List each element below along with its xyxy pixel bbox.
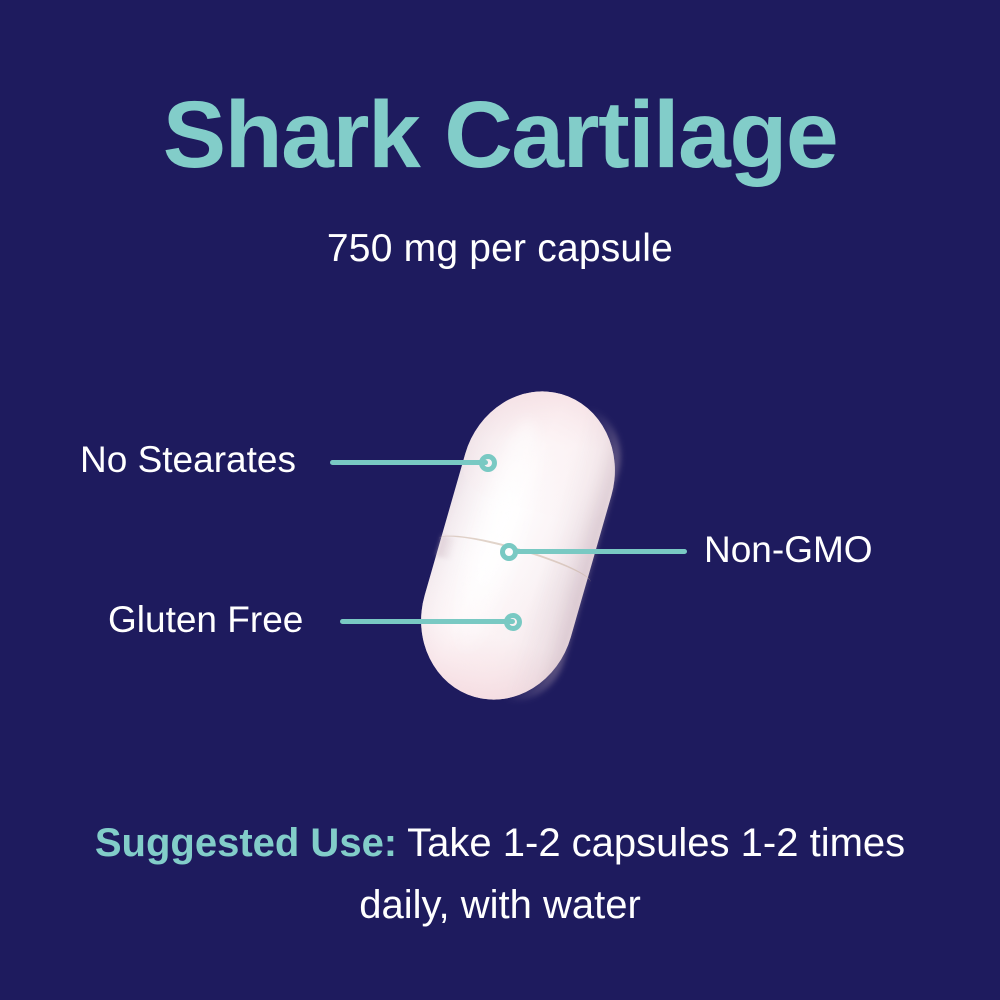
suggested-use-text: Take 1-2 capsules 1-2 times daily, with … [359, 821, 905, 927]
callout-leader-no-stearates [330, 460, 488, 465]
callout-label-non-gmo: Non-GMO [704, 531, 873, 568]
page-title: Shark Cartilage [0, 88, 1000, 183]
suggested-use-label: Suggested Use: [95, 821, 397, 865]
callout-marker-icon-gluten-free [504, 613, 522, 631]
product-infographic: Shark Cartilage 750 mg per capsule No St… [0, 0, 1000, 1000]
capsule-shape [402, 373, 635, 718]
dosage-subtitle: 750 mg per capsule [0, 229, 1000, 268]
callout-label-no-stearates: No Stearates [80, 441, 296, 478]
capsule-image [413, 380, 623, 710]
callout-marker-icon-non-gmo [500, 543, 518, 561]
callout-leader-non-gmo [515, 549, 687, 554]
callout-leader-gluten-free [340, 619, 515, 624]
callout-label-gluten-free: Gluten Free [108, 601, 303, 638]
callout-marker-icon-no-stearates [479, 454, 497, 472]
suggested-use: Suggested Use:Take 1-2 capsules 1-2 time… [60, 812, 940, 936]
